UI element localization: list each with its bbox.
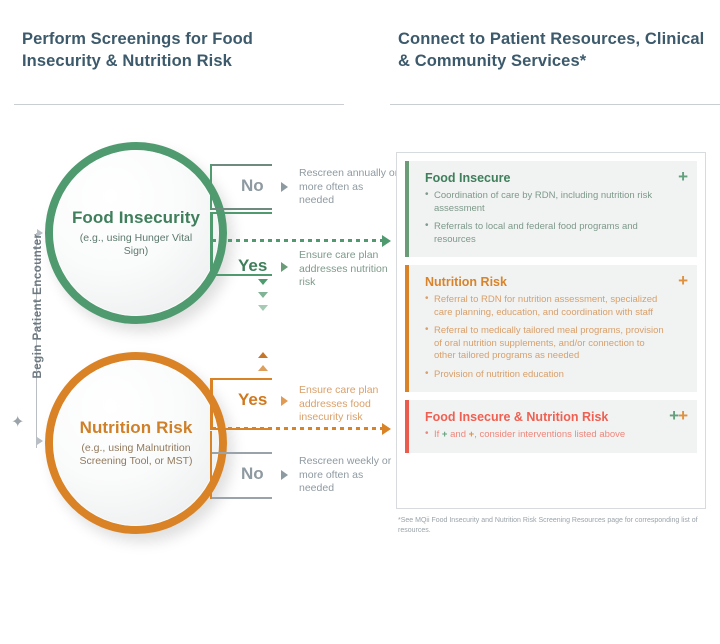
- card-food-insecure[interactable]: + Food Insecure Coordination of care by …: [405, 161, 697, 257]
- arrow-nutrition-no-icon: [281, 470, 288, 480]
- node-food-insecurity-title: Food Insecurity: [72, 208, 200, 228]
- node-nutrition-risk-title: Nutrition Risk: [80, 418, 193, 438]
- card-food-insecure-list: Coordination of care by RDN, including n…: [425, 190, 667, 246]
- branch-label-nutrition-yes: Yes: [238, 390, 267, 410]
- list-item: If + and +, consider interventions liste…: [425, 429, 667, 442]
- action-food-yes: Ensure care plan addresses nutrition ris…: [299, 249, 399, 290]
- node-nutrition-risk[interactable]: Nutrition Risk (e.g., using Malnutrition…: [45, 352, 227, 534]
- branch-label-nutrition-no: No: [241, 464, 264, 484]
- connector-food-no-vertical: [210, 164, 212, 210]
- combined-suffix: , consider interventions listed above: [474, 429, 625, 440]
- dotted-connector-food: [212, 239, 384, 242]
- connector-nutrition-no-vertical: [210, 431, 212, 499]
- card-nutrition-risk-title: Nutrition Risk: [425, 275, 667, 289]
- card-nutrition-risk[interactable]: + Nutrition Risk Referral to RDN for nut…: [405, 265, 697, 392]
- infographic-canvas: Perform Screenings for Food Insecurity &…: [0, 0, 720, 644]
- encounter-arrow-bottom-icon: [37, 437, 43, 445]
- connector-nutrition-yes-top: [210, 378, 272, 380]
- connector-nutrition-no-top: [210, 452, 272, 454]
- connector-food-no-bottom: [210, 208, 272, 210]
- encounter-label: Begin Patient Encounter: [32, 206, 44, 406]
- action-nutrition-no: Rescreen weekly or more often as needed: [299, 455, 399, 496]
- connector-food-yes-vertical: [210, 212, 213, 276]
- branch-label-food-yes: Yes: [238, 256, 267, 276]
- card-combined-title: Food Insecure & Nutrition Risk: [425, 410, 667, 424]
- chevron-down-food-2-icon: [258, 292, 268, 298]
- header-divider-left: [14, 104, 344, 105]
- resources-panel: + Food Insecure Coordination of care by …: [396, 152, 706, 509]
- arrow-nutrition-yes-icon: [281, 396, 288, 406]
- chevron-down-food-3-icon: [258, 305, 268, 311]
- star-icon: ✦: [11, 415, 27, 431]
- combined-prefix: If: [434, 429, 442, 440]
- dotted-connector-food-arrow-icon: [382, 235, 391, 247]
- card-combined-list: If + and +, consider interventions liste…: [425, 429, 667, 442]
- chevron-up-nutrition-2-icon: [258, 365, 268, 371]
- node-food-insecurity-subtitle: (e.g., using Hunger Vital Sign): [53, 232, 219, 258]
- connector-food-no-top: [210, 164, 272, 166]
- chevron-down-food-1-icon: [258, 279, 268, 285]
- arrow-food-yes-icon: [281, 262, 288, 272]
- branch-label-food-no: No: [241, 176, 264, 196]
- list-item: Provision of nutrition education: [425, 369, 667, 382]
- connector-nutrition-no-bottom: [210, 497, 272, 499]
- list-item: Referral to RDN for nutrition assessment…: [425, 294, 667, 319]
- dotted-connector-nutrition-arrow-icon: [382, 423, 391, 435]
- card-food-insecure-and-nutrition-risk[interactable]: ++ Food Insecure & Nutrition Risk If + a…: [405, 400, 697, 453]
- combined-middle: and: [447, 429, 468, 440]
- connector-nutrition-yes-vertical: [210, 378, 213, 430]
- plus-marker-green-icon: +: [678, 169, 687, 184]
- plus-marker-orange-icon: +: [678, 273, 687, 288]
- list-item: Referral to medically tailored meal prog…: [425, 325, 667, 363]
- card-nutrition-risk-list: Referral to RDN for nutrition assessment…: [425, 294, 667, 381]
- node-food-insecurity-body: Food Insecurity (e.g., using Hunger Vita…: [53, 150, 219, 316]
- node-nutrition-risk-body: Nutrition Risk (e.g., using Malnutrition…: [53, 360, 219, 526]
- card-food-insecure-title: Food Insecure: [425, 171, 667, 185]
- header-divider-right: [390, 104, 720, 105]
- page-title-left: Perform Screenings for Food Insecurity &…: [22, 28, 322, 72]
- node-food-insecurity[interactable]: Food Insecurity (e.g., using Hunger Vita…: [45, 142, 227, 324]
- arrow-food-no-icon: [281, 182, 288, 192]
- list-item: Coordination of care by RDN, including n…: [425, 190, 667, 215]
- list-item: Referrals to local and federal food prog…: [425, 221, 667, 246]
- plus-marker-double-icon: ++: [669, 408, 687, 423]
- connector-food-yes-top: [210, 212, 272, 214]
- node-nutrition-risk-subtitle: (e.g., using Malnutrition Screening Tool…: [53, 442, 219, 468]
- action-nutrition-yes: Ensure care plan addresses food insecuri…: [299, 384, 399, 425]
- chevron-up-nutrition-1-icon: [258, 352, 268, 358]
- action-food-no: Rescreen annually or more often as neede…: [299, 167, 399, 208]
- dotted-connector-nutrition: [212, 427, 384, 430]
- page-title-right: Connect to Patient Resources, Clinical &…: [398, 28, 708, 72]
- footnote: *See MQii Food Insecurity and Nutrition …: [398, 516, 698, 535]
